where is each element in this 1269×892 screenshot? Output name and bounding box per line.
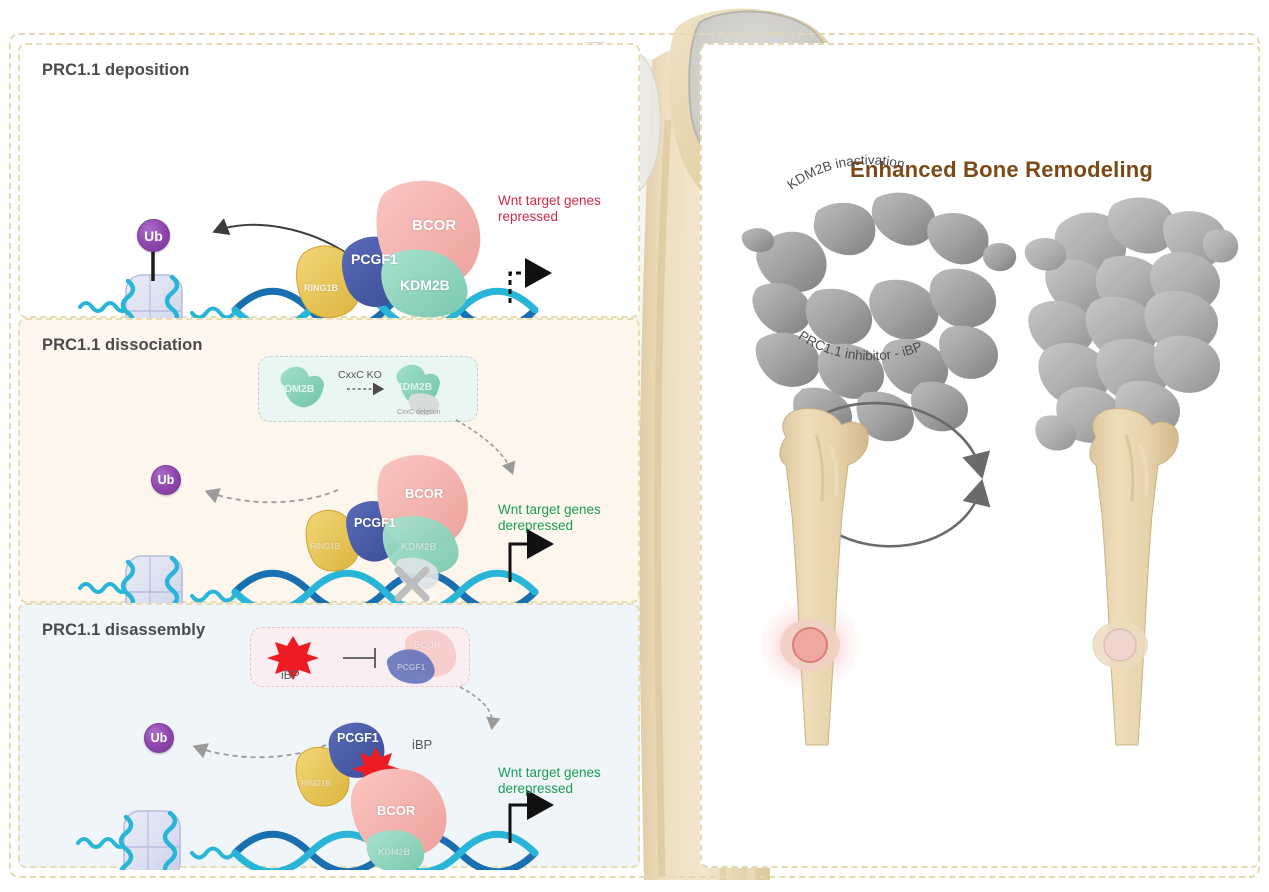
gene-status-deposition: Wnt target genes repressed	[498, 193, 601, 225]
lesion-site-left	[793, 628, 827, 662]
ub-label: Ub	[144, 228, 163, 244]
dna-helix-p2	[235, 573, 535, 605]
mechanism-column: PRC1.1 deposition	[18, 43, 640, 868]
nucleosome-p1	[123, 275, 182, 320]
gene-status-line2: derepressed	[498, 781, 601, 797]
dna-linker-p3	[192, 849, 234, 858]
gene-status-disassembly: Wnt target genes derepressed	[498, 765, 601, 797]
prc11-complex-p1	[297, 181, 481, 318]
prc11-complex-p2	[306, 455, 468, 590]
gene-status-line1: Wnt target genes	[498, 193, 601, 209]
gene-status-line1: Wnt target genes	[498, 765, 601, 781]
gene-status-line2: repressed	[498, 209, 601, 225]
panel1-graphics	[20, 45, 642, 320]
ub-badge-p2: Ub	[151, 465, 181, 495]
cycle-label-top-svg: KDM2B inactivation	[784, 152, 906, 192]
ub-label: Ub	[158, 473, 175, 487]
bone-remodeling-panel: Enhanced Bone Remodeling	[700, 43, 1260, 868]
panel2-graphics	[20, 320, 642, 605]
nucleosome-p3	[121, 811, 180, 870]
panel-prc11-dissociation: PRC1.1 dissociation	[18, 318, 640, 603]
bone-illustration-left	[748, 409, 872, 745]
ub-release-arrow-p2	[208, 490, 338, 502]
ub-badge-p1: Ub	[137, 219, 170, 252]
ibp-label-p3: iBP	[412, 737, 432, 752]
gene-status-line1: Wnt target genes	[498, 502, 601, 518]
inset-to-complex-arrow-p2	[456, 420, 512, 472]
lesion-site-right-healed	[1104, 629, 1136, 661]
nucleosome-p2	[123, 556, 182, 605]
ub-label: Ub	[151, 731, 168, 745]
inset-to-complex-arrow-p3	[460, 687, 492, 727]
panel3-graphics	[20, 605, 642, 870]
panel-prc11-deposition: PRC1.1 deposition	[18, 43, 640, 318]
bone-illustration-right	[1090, 409, 1178, 745]
gene-status-dissociation: Wnt target genes derepressed	[498, 502, 601, 534]
gene-status-line2: derepressed	[498, 518, 601, 534]
dna-linker-p1	[192, 309, 234, 318]
panel-prc11-disassembly: PRC1.1 disassembly iBP BCOR PCGF1	[18, 603, 640, 868]
ub-badge-p3: Ub	[144, 723, 174, 753]
dna-linker-p2	[192, 592, 234, 601]
bone-panel-graphics: KDM2B inactivation PRC1.1 inhibitor - iB…	[702, 45, 1258, 866]
